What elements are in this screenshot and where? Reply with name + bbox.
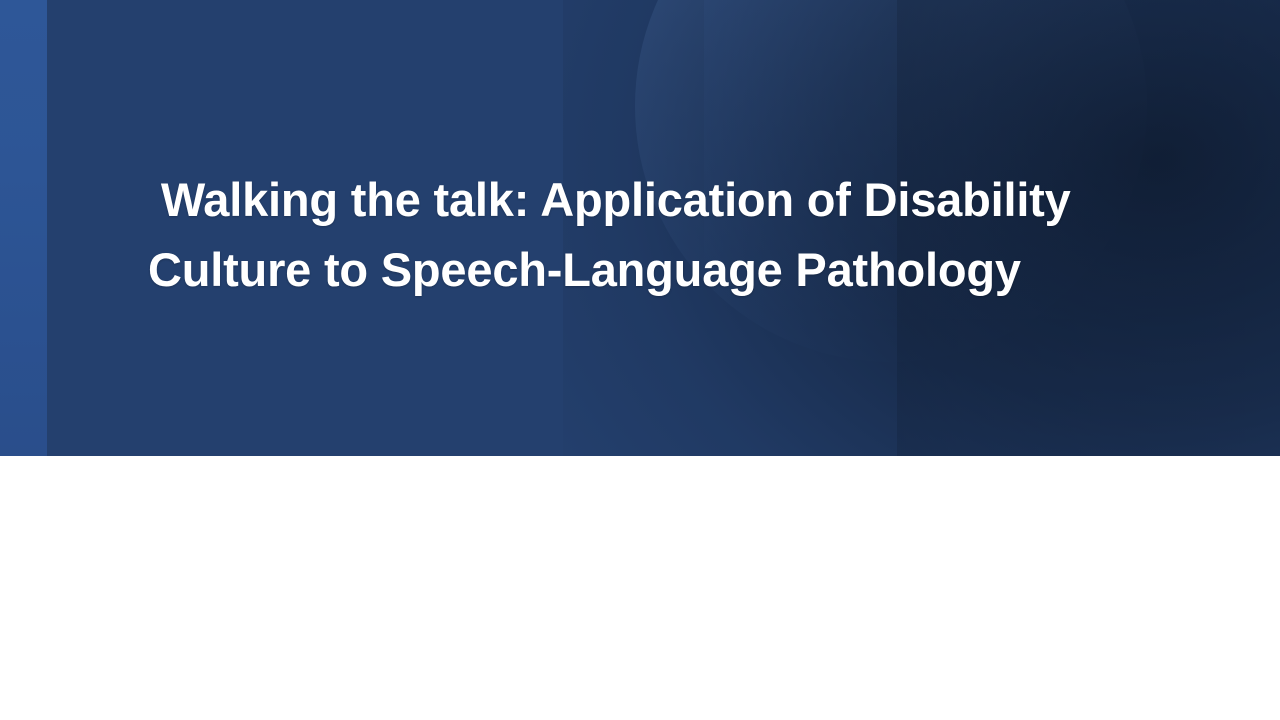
slide-body-area — [0, 456, 1280, 720]
title-banner: Walking the talk: Application of Disabil… — [0, 0, 1280, 456]
title-block: Walking the talk: Application of Disabil… — [148, 165, 1158, 305]
left-accent-strip — [0, 0, 47, 456]
slide-root: Walking the talk: Application of Disabil… — [0, 0, 1280, 720]
slide-title: Walking the talk: Application of Disabil… — [148, 165, 1158, 305]
